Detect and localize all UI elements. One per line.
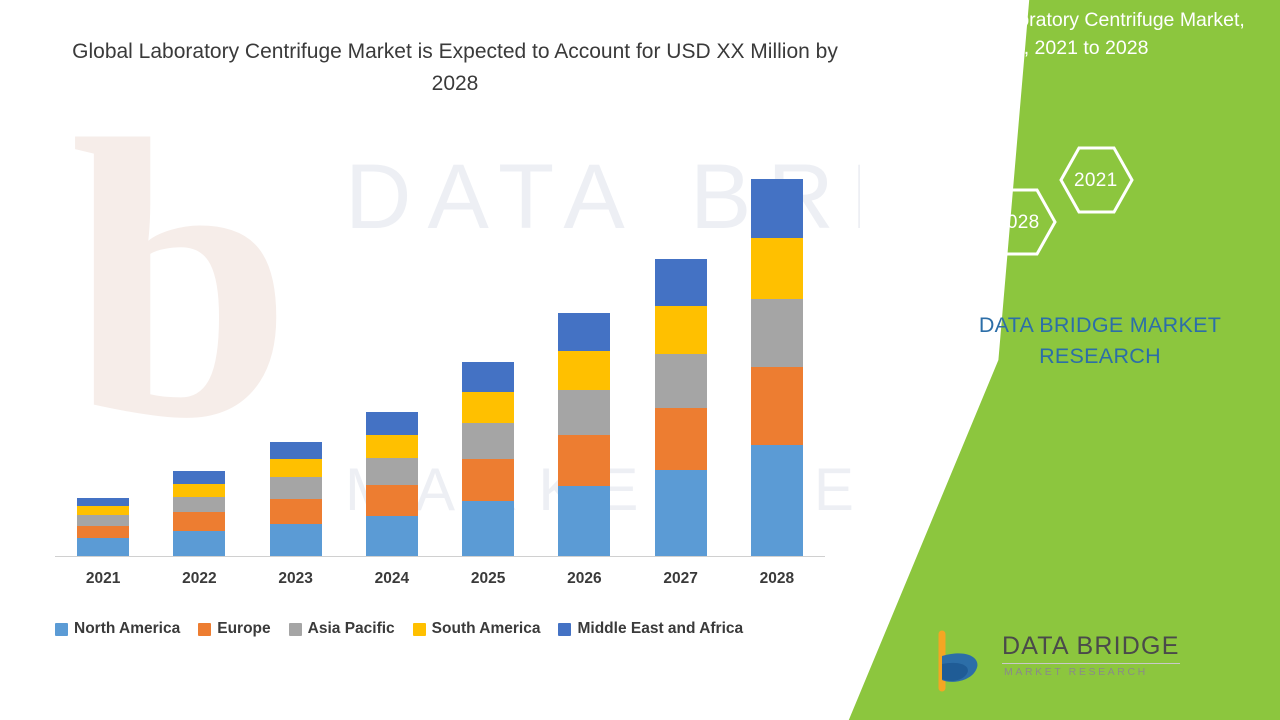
data-bridge-logo-icon — [930, 630, 992, 692]
bar-segment — [270, 459, 322, 478]
bar-segment — [173, 497, 225, 512]
bar-segment — [173, 484, 225, 497]
legend-swatch-icon — [198, 623, 211, 636]
bar-stack-2023 — [270, 442, 322, 556]
bar-segment — [173, 531, 225, 556]
legend-swatch-icon — [289, 623, 302, 636]
hexagon-group: 2028 2021 — [984, 140, 1194, 280]
bar-stack-2021 — [77, 498, 129, 556]
bar-segment — [366, 485, 418, 516]
bar-segment — [751, 445, 803, 556]
legend-label: Europe — [217, 620, 270, 638]
chart-legend: North AmericaEuropeAsia PacificSouth Ame… — [55, 617, 845, 641]
x-axis-tick-labels: 20212022202320242025202620272028 — [55, 570, 825, 594]
logo-name: DATA BRIDGE — [1002, 632, 1180, 661]
bar-stack-2028 — [751, 179, 803, 556]
x-tick-2026: 2026 — [544, 570, 624, 588]
bar-segment — [270, 499, 322, 524]
bar-segment — [77, 498, 129, 506]
bar-segment — [751, 238, 803, 299]
bar-segment — [751, 299, 803, 367]
bar-segment — [77, 526, 129, 539]
legend-item[interactable]: South America — [413, 620, 541, 638]
legend-label: Middle East and Africa — [577, 620, 743, 638]
logo-divider — [1002, 663, 1180, 664]
bar-stack-2026 — [558, 313, 610, 556]
x-tick-2025: 2025 — [448, 570, 528, 588]
hexagon-label-2021: 2021 — [1074, 170, 1117, 192]
legend-item[interactable]: Middle East and Africa — [558, 620, 743, 638]
x-tick-2022: 2022 — [159, 570, 239, 588]
brand-line-2: RESEARCH — [950, 341, 1250, 372]
legend-swatch-icon — [558, 623, 571, 636]
bar-segment — [270, 477, 322, 498]
bar-segment — [655, 306, 707, 354]
x-tick-2024: 2024 — [352, 570, 432, 588]
bar-segment — [77, 515, 129, 526]
bar-segment — [751, 179, 803, 238]
bar-stack-2024 — [366, 412, 418, 556]
hexagon-shapes — [984, 140, 1194, 280]
bar-segment — [366, 435, 418, 458]
bar-segment — [173, 512, 225, 531]
brand-line-1: DATA BRIDGE MARKET — [950, 310, 1250, 341]
legend-item[interactable]: Europe — [198, 620, 270, 638]
legend-swatch-icon — [413, 623, 426, 636]
bar-segment — [462, 392, 514, 423]
company-logo: DATA BRIDGE MARKET RESEARCH — [930, 628, 1195, 698]
bar-segment — [751, 367, 803, 446]
bar-segment — [558, 351, 610, 390]
bar-stack-2025 — [462, 362, 514, 556]
bar-segment — [366, 458, 418, 485]
bar-segment — [655, 354, 707, 408]
brand-name: DATA BRIDGE MARKET RESEARCH — [950, 310, 1250, 372]
panel-title: Global Laboratory Centrifuge Market, By … — [924, 6, 1254, 62]
bar-segment — [462, 501, 514, 556]
bar-segment — [462, 362, 514, 391]
bar-segment — [655, 408, 707, 471]
x-axis-line — [55, 556, 825, 557]
legend-label: Asia Pacific — [308, 620, 395, 638]
bar-segment — [558, 313, 610, 351]
hexagon-label-2028: 2028 — [996, 212, 1039, 234]
legend-swatch-icon — [55, 623, 68, 636]
bar-chart-plot-area — [55, 120, 825, 557]
bar-segment — [77, 506, 129, 515]
x-tick-2027: 2027 — [641, 570, 721, 588]
bar-segment — [558, 390, 610, 435]
bar-segment — [462, 459, 514, 501]
bar-segment — [655, 259, 707, 305]
legend-item[interactable]: North America — [55, 620, 180, 638]
x-tick-2021: 2021 — [63, 570, 143, 588]
bar-segment — [366, 516, 418, 556]
bar-segment — [270, 524, 322, 556]
infographic-slide: b DATA BRIDGE MARKET RESEARCH Global Lab… — [0, 0, 1280, 720]
bar-segment — [270, 442, 322, 459]
logo-subtitle: MARKET RESEARCH — [1004, 666, 1148, 678]
legend-label: North America — [74, 620, 180, 638]
bar-segment — [462, 423, 514, 459]
x-tick-2023: 2023 — [256, 570, 336, 588]
bar-stack-2027 — [655, 259, 707, 556]
chart-title: Global Laboratory Centrifuge Market is E… — [60, 36, 850, 100]
legend-label: South America — [432, 620, 541, 638]
x-tick-2028: 2028 — [737, 570, 817, 588]
legend-item[interactable]: Asia Pacific — [289, 620, 395, 638]
bar-segment — [173, 471, 225, 484]
bar-segment — [77, 538, 129, 556]
bar-segment — [366, 412, 418, 434]
bar-segment — [558, 435, 610, 487]
bar-stack-2022 — [173, 471, 225, 556]
bar-segment — [558, 486, 610, 556]
bar-segment — [655, 470, 707, 556]
